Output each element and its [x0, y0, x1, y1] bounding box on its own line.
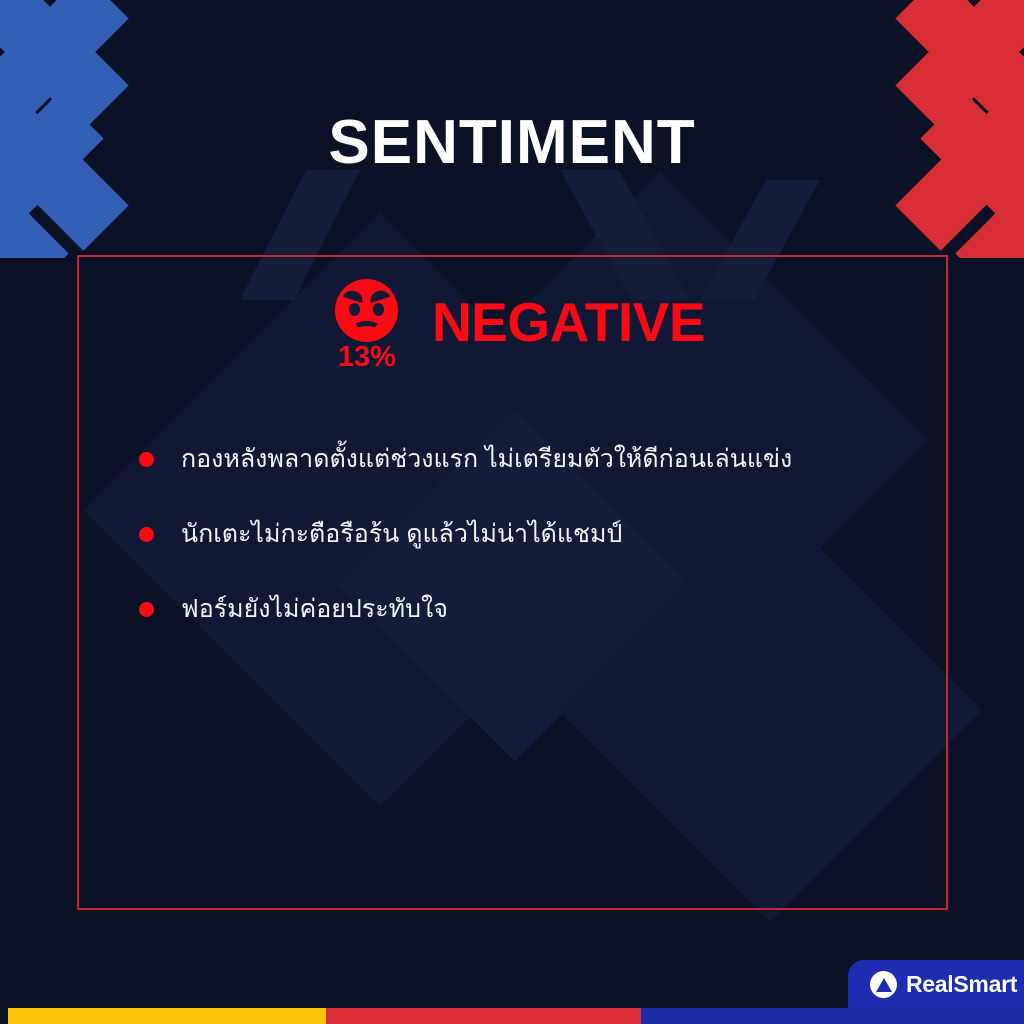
comment-list: กองหลังพลาดตั้งแต่ช่วงแรก ไม่เตรียมตัวให… [139, 443, 939, 667]
bottom-color-bar [0, 1008, 1024, 1024]
sentiment-header: 13% NEGATIVE [79, 279, 950, 372]
list-item-text: นักเตะไม่กะตือรือร้น ดูแล้วไม่น่าได้แชมป… [181, 518, 622, 552]
bullet-dot-icon [139, 527, 154, 542]
brand-name: RealSmart [906, 971, 1017, 998]
bar-segment-red [326, 1008, 641, 1024]
bar-segment-blue [641, 1008, 1024, 1024]
brand-logo-badge: RealSmart [848, 960, 1024, 1008]
angry-face-icon [335, 279, 398, 342]
list-item-text: กองหลังพลาดตั้งแต่ช่วงแรก ไม่เตรียมตัวให… [181, 443, 792, 477]
list-item-text: ฟอร์มยังไม่ค่อยประทับใจ [181, 593, 448, 627]
page-title: SENTIMENT [0, 112, 1024, 174]
sentiment-percent: 13% [338, 343, 396, 372]
list-item: กองหลังพลาดตั้งแต่ช่วงแรก ไม่เตรียมตัวให… [139, 443, 939, 477]
list-item: ฟอร์มยังไม่ค่อยประทับใจ [139, 593, 939, 627]
infographic-canvas: SENTIMENT 13% NEGATIVE กองหลังพลาดตั้ง [0, 0, 1024, 1024]
bullet-dot-icon [139, 452, 154, 467]
eyebrow-left [344, 288, 366, 303]
eyebrow-right [369, 288, 391, 303]
sentiment-label: NEGATIVE [432, 295, 705, 350]
frown-mouth [352, 321, 381, 337]
sentiment-panel: 13% NEGATIVE กองหลังพลาดตั้งแต่ช่วงแรก ไ… [77, 255, 948, 910]
eye-right [373, 303, 384, 316]
bar-segment-yellow [8, 1008, 326, 1024]
bar-segment-pad [0, 1008, 8, 1024]
realsmart-logo-icon [870, 971, 897, 998]
eye-left [349, 303, 360, 316]
bullet-dot-icon [139, 602, 154, 617]
sentiment-emoji-block: 13% [324, 279, 410, 372]
list-item: นักเตะไม่กะตือรือร้น ดูแล้วไม่น่าได้แชมป… [139, 518, 939, 552]
